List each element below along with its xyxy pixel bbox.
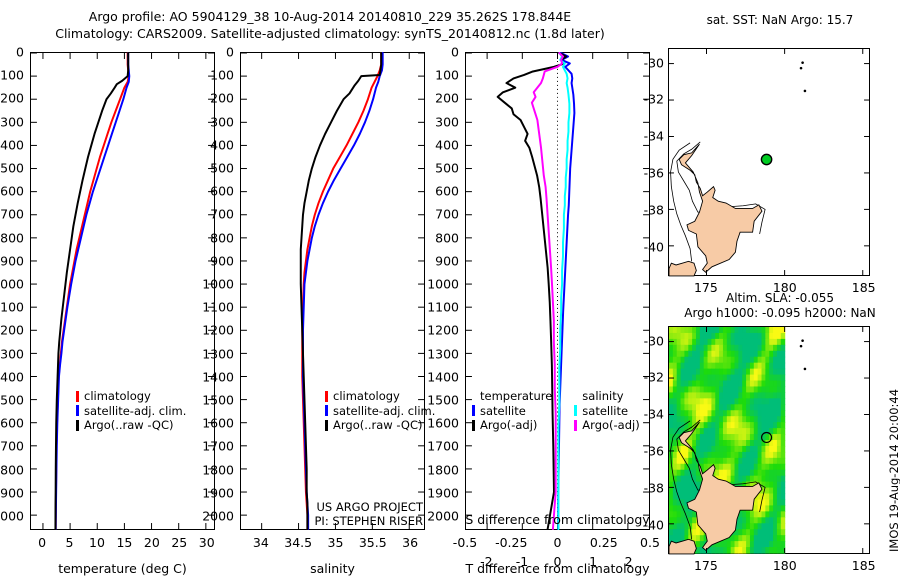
legend-swatch-icon <box>76 420 79 431</box>
argo-project-annotation: US ARGO PROJECTPI: STEPHEN RISER <box>265 500 423 528</box>
depth-tick-label: 1500 <box>413 393 459 408</box>
depth-tick-label: 800 <box>188 230 234 245</box>
legend-label: climatology <box>333 389 400 404</box>
depth-tick-label: 1200 <box>0 323 24 338</box>
depth-tick-label: 800 <box>0 230 24 245</box>
depth-tick-label: 0 <box>188 45 234 60</box>
depth-tick-label: 600 <box>0 184 24 199</box>
s-difference-axis-label: S difference from climatology <box>455 512 660 527</box>
legend-label: Argo(-adj) <box>480 418 537 433</box>
difference-profile-plot <box>466 53 649 529</box>
depth-tick-label: 1800 <box>413 462 459 477</box>
s-difference-tick-label: 0 <box>554 535 562 550</box>
x-tick-label: 34.5 <box>284 535 312 550</box>
temperature-legend-item: Argo(..raw -QC) <box>76 418 186 433</box>
depth-tick-label: 1900 <box>0 485 24 500</box>
longitude-tick-label: 185 <box>852 558 876 573</box>
depth-tick-label: 1300 <box>188 346 234 361</box>
sst-map-panel <box>668 48 870 276</box>
difference-legend-group: temperaturesatelliteArgo(-adj) <box>472 389 552 433</box>
depth-tick-label: 800 <box>413 230 459 245</box>
depth-tick-label: 100 <box>0 68 24 83</box>
difference-profile-panel <box>465 52 650 530</box>
depth-tick-label: 500 <box>188 161 234 176</box>
depth-tick-label: 900 <box>0 253 24 268</box>
legend-group-title: temperature <box>472 389 552 404</box>
sla-map-title-line2: Argo h1000: -0.095 h2000: NaN <box>660 306 900 321</box>
legend-group-title: salinity <box>574 389 639 404</box>
depth-tick-label: 1300 <box>0 346 24 361</box>
depth-tick-label: 200 <box>0 91 24 106</box>
depth-tick-label: 1700 <box>413 439 459 454</box>
legend-label: Argo(-adj) <box>582 418 639 433</box>
legend-swatch-icon <box>325 420 328 431</box>
sla-map-panel <box>668 326 870 554</box>
depth-tick-label: 400 <box>188 137 234 152</box>
legend-swatch-icon <box>325 405 328 416</box>
depth-tick-label: 400 <box>0 137 24 152</box>
latitude-tick-label: -32 <box>634 92 664 107</box>
latitude-tick-label: -36 <box>634 444 664 459</box>
depth-tick-label: 0 <box>0 45 24 60</box>
legend-swatch-icon <box>76 391 79 402</box>
x-tick-label: 35.5 <box>359 535 387 550</box>
sst-map-title: sat. SST: NaN Argo: 15.7 <box>660 13 900 28</box>
sst-map-plot <box>669 49 869 275</box>
difference-legend-item: Argo(-adj) <box>472 418 552 433</box>
depth-tick-label: 300 <box>413 114 459 129</box>
depth-tick-label: 1100 <box>413 300 459 315</box>
depth-tick-label: 0 <box>413 45 459 60</box>
temperature-profile-plot <box>31 53 214 529</box>
depth-tick-label: 1800 <box>188 462 234 477</box>
x-tick-label: 25 <box>171 535 187 550</box>
depth-tick-label: 1600 <box>0 416 24 431</box>
figure-title-line2: Climatology: CARS2009. Satellite-adjuste… <box>0 25 660 42</box>
depth-tick-label: 200 <box>413 91 459 106</box>
depth-tick-label: 1400 <box>0 369 24 384</box>
temperature-legend: climatologysatellite-adj. clim.Argo(..ra… <box>76 389 186 433</box>
s-difference-tick-label: -0.5 <box>453 535 477 550</box>
difference-legend: temperaturesatelliteArgo(-adj)salinitysa… <box>472 389 640 433</box>
depth-tick-label: 400 <box>413 137 459 152</box>
depth-tick-label: 1900 <box>413 485 459 500</box>
legend-label: satellite <box>480 404 526 419</box>
depth-tick-label: 900 <box>188 253 234 268</box>
depth-tick-label: 100 <box>413 68 459 83</box>
depth-tick-label: 1200 <box>188 323 234 338</box>
latitude-tick-label: -40 <box>634 517 664 532</box>
legend-swatch-icon <box>472 420 475 431</box>
temperature-axis-label: temperature (deg C) <box>30 561 215 576</box>
latitude-tick-label: -32 <box>634 370 664 385</box>
depth-tick-label: 1000 <box>413 277 459 292</box>
depth-tick-label: 500 <box>0 161 24 176</box>
latitude-tick-label: -38 <box>634 480 664 495</box>
figure-title: Argo profile: AO 5904129_38 10-Aug-2014 … <box>0 8 660 42</box>
longitude-tick-label: 180 <box>773 558 797 573</box>
x-tick-label: 36 <box>402 535 418 550</box>
depth-tick-label: 1900 <box>188 485 234 500</box>
depth-tick-label: 500 <box>413 161 459 176</box>
depth-tick-label: 1100 <box>188 300 234 315</box>
depth-tick-label: 2000 <box>413 509 459 524</box>
difference-legend-item: Argo(-adj) <box>574 418 639 433</box>
legend-swatch-icon <box>574 405 577 416</box>
depth-tick-label: 700 <box>413 207 459 222</box>
depth-tick-label: 900 <box>413 253 459 268</box>
depth-tick-label: 1000 <box>0 277 24 292</box>
depth-tick-label: 1500 <box>0 393 24 408</box>
depth-tick-label: 600 <box>413 184 459 199</box>
depth-tick-label: 700 <box>0 207 24 222</box>
latitude-tick-label: -36 <box>634 166 664 181</box>
x-tick-label: 34 <box>253 535 269 550</box>
x-tick-label: 0 <box>38 535 46 550</box>
latitude-tick-label: -34 <box>634 129 664 144</box>
s-difference-tick-label: -0.25 <box>495 535 527 550</box>
latitude-tick-label: -30 <box>634 55 664 70</box>
depth-tick-label: 1500 <box>188 393 234 408</box>
legend-label: Argo(..raw -QC) <box>333 418 423 433</box>
difference-legend-group: salinitysatelliteArgo(-adj) <box>574 389 639 433</box>
t-difference-axis-label: T difference from climatology <box>455 561 660 576</box>
x-tick-label: 5 <box>66 535 74 550</box>
legend-label: Argo(..raw -QC) <box>84 418 174 433</box>
s-difference-tick-label: 0.5 <box>640 535 660 550</box>
argo-project-annotation-line: US ARGO PROJECT <box>265 500 423 514</box>
depth-tick-label: 1100 <box>0 300 24 315</box>
sla-map-title-line1: Altim. SLA: -0.055 <box>660 291 900 306</box>
depth-tick-label: 700 <box>188 207 234 222</box>
latitude-tick-label: -34 <box>634 407 664 422</box>
legend-swatch-icon <box>76 405 79 416</box>
imos-timestamp: IMOS 19-Aug-2014 20:00:44 <box>887 389 900 552</box>
depth-tick-label: 2000 <box>0 509 24 524</box>
temperature-legend-item: satellite-adj. clim. <box>76 404 186 419</box>
argo-project-annotation-line: PI: STEPHEN RISER <box>265 514 423 528</box>
latitude-tick-label: -30 <box>634 333 664 348</box>
depth-tick-label: 1600 <box>188 416 234 431</box>
depth-tick-label: 1200 <box>413 323 459 338</box>
latitude-tick-label: -40 <box>634 239 664 254</box>
latitude-tick-label: -38 <box>634 202 664 217</box>
x-tick-label: 30 <box>199 535 215 550</box>
sla-map-title: Altim. SLA: -0.055 Argo h1000: -0.095 h2… <box>660 291 900 321</box>
depth-tick-label: 600 <box>188 184 234 199</box>
depth-tick-label: 2000 <box>188 509 234 524</box>
x-tick-label: 15 <box>116 535 132 550</box>
legend-label: satellite-adj. clim. <box>84 404 186 419</box>
depth-tick-label: 300 <box>0 114 24 129</box>
depth-tick-label: 1600 <box>413 416 459 431</box>
salinity-profile-plot <box>241 53 424 529</box>
difference-legend-item: satellite <box>574 404 639 419</box>
sla-map-plot <box>669 327 869 553</box>
depth-tick-label: 1400 <box>413 369 459 384</box>
depth-tick-label: 1800 <box>0 462 24 477</box>
depth-tick-label: 1700 <box>0 439 24 454</box>
legend-swatch-icon <box>574 420 577 431</box>
salinity-axis-label: salinity <box>240 561 425 576</box>
depth-tick-label: 100 <box>188 68 234 83</box>
temperature-legend-item: climatology <box>76 389 186 404</box>
legend-label: climatology <box>84 389 151 404</box>
x-tick-label: 10 <box>89 535 105 550</box>
legend-swatch-icon <box>472 405 475 416</box>
depth-tick-label: 1300 <box>413 346 459 361</box>
salinity-profile-panel <box>240 52 425 530</box>
s-difference-tick-label: 0.25 <box>590 535 618 550</box>
depth-tick-label: 1700 <box>188 439 234 454</box>
depth-tick-label: 300 <box>188 114 234 129</box>
depth-tick-label: 1400 <box>188 369 234 384</box>
depth-tick-label: 1000 <box>188 277 234 292</box>
figure-title-line1: Argo profile: AO 5904129_38 10-Aug-2014 … <box>0 8 660 25</box>
depth-tick-label: 200 <box>188 91 234 106</box>
difference-legend-item: satellite <box>472 404 552 419</box>
x-tick-label: 20 <box>144 535 160 550</box>
x-tick-label: 35 <box>328 535 344 550</box>
longitude-tick-label: 175 <box>694 558 718 573</box>
legend-label: satellite <box>582 404 628 419</box>
legend-swatch-icon <box>325 391 328 402</box>
